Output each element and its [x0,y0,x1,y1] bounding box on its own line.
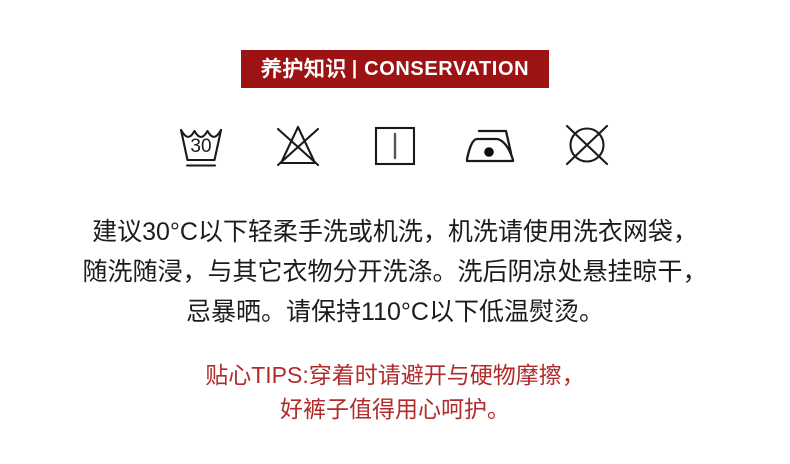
care-tips-text: 贴心TIPS:穿着时请避开与硬物摩擦， 好裤子值得用心呵护。 [0,358,790,426]
line-dry-icon [366,118,424,172]
header-separator: | [352,59,357,78]
care-tip-line: 好裤子值得用心呵护。 [0,392,790,426]
care-tip-line: 贴心TIPS:穿着时请避开与硬物摩擦， [0,358,790,392]
do-not-dry-clean-icon [558,118,616,172]
header-title-en: CONSERVATION [364,59,529,79]
care-instruction-line: 随洗随浸，与其它衣物分开洗涤。洗后阴凉处悬挂晾干， [0,252,790,292]
header-row: 养护知识 | CONSERVATION [0,50,790,88]
header-title-cn: 养护知识 [261,59,347,80]
wash-temperature-label: 30 [190,136,211,157]
care-instruction-line: 忌暴晒。请保持110°C以下低温熨烫。 [0,292,790,332]
iron-low-temperature-icon [462,118,520,172]
care-symbol-row: 30 [0,118,790,172]
care-instructions-text: 建议30°C以下轻柔手洗或机洗，机洗请使用洗衣网袋， 随洗随浸，与其它衣物分开洗… [0,212,790,332]
conservation-header-banner: 养护知识 | CONSERVATION [241,50,549,88]
care-instruction-line: 建议30°C以下轻柔手洗或机洗，机洗请使用洗衣网袋， [0,212,790,252]
do-not-bleach-icon [270,118,328,172]
wash-tub-30-gentle-icon: 30 [174,118,232,172]
care-instructions-page: 养护知识 | CONSERVATION 30 [0,0,790,464]
